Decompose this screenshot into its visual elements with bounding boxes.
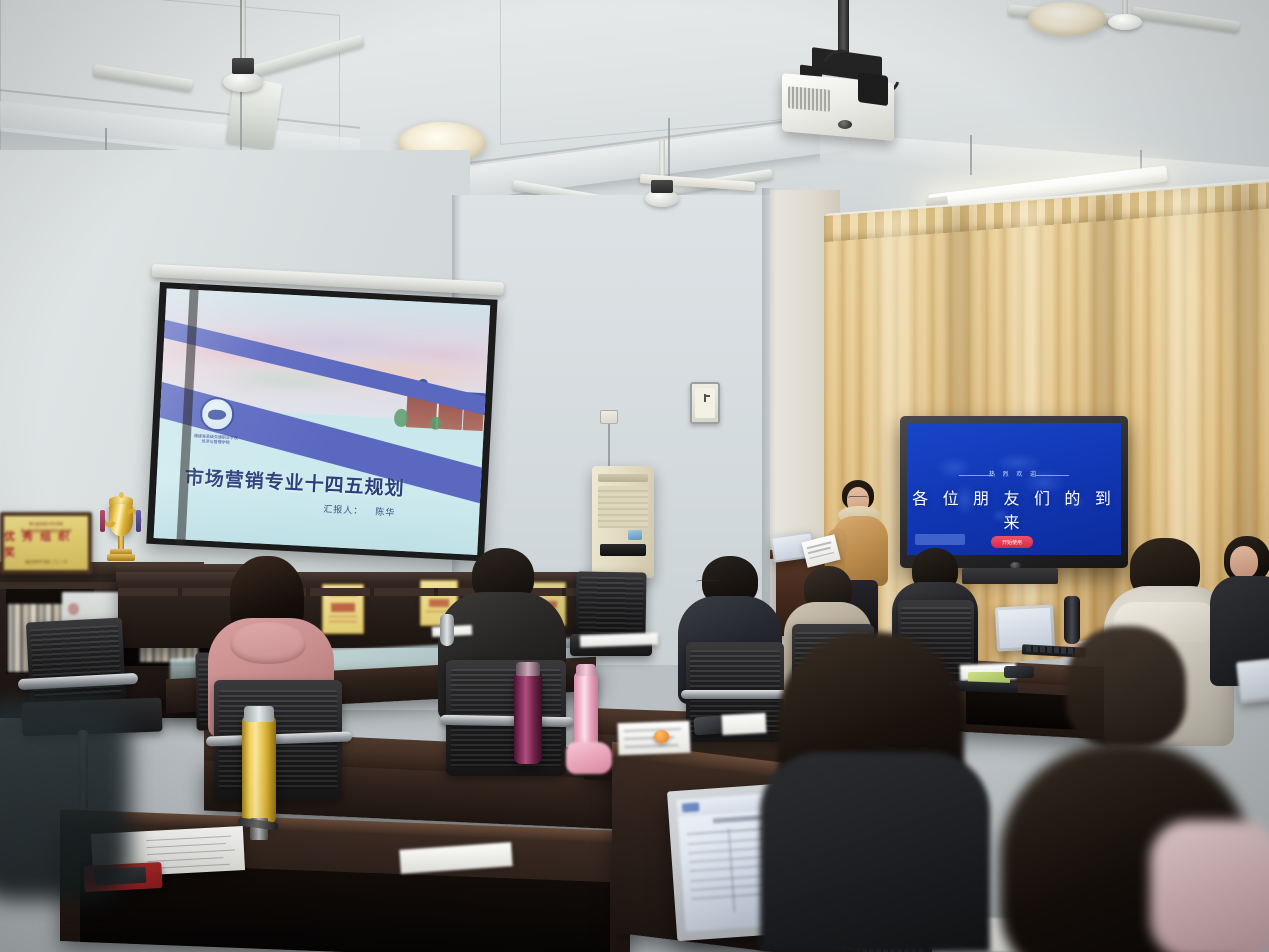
thermos-cap — [576, 664, 596, 676]
plaque-header: 第九届全国大学生竞赛 — [4, 521, 88, 526]
projection-screen-frame: 福建省高级交通职业学院 经济与管理学院 市场营销专业十四五规划 汇报人： 陈华 — [146, 282, 497, 561]
clock-hand-minute — [704, 395, 710, 397]
ac-filter-panel — [598, 486, 648, 528]
trophy-ribbon — [100, 510, 105, 532]
black-thermos[interactable] — [1064, 596, 1080, 644]
ac-top-vent — [598, 474, 648, 482]
laptop-screen — [1238, 660, 1269, 700]
fan-rod — [1122, 0, 1128, 14]
ceiling-dome-light — [1028, 2, 1106, 36]
computer-mouse[interactable] — [1004, 666, 1034, 678]
chair-arm — [681, 690, 791, 699]
smart-display-screen: 热 烈 欢 迎 各 位 朋 友 们 的 到 来 开始使用 — [907, 423, 1121, 555]
foreground-chair-blur — [0, 700, 130, 900]
ac-outlet-vent — [600, 544, 646, 556]
logo-emblem — [208, 409, 227, 421]
projector-connector-block — [858, 72, 888, 106]
pendant-stem — [970, 135, 972, 175]
orange-fruit — [654, 730, 669, 743]
fan-hub — [1108, 14, 1142, 30]
foreground-shoulders-1 — [760, 752, 990, 952]
foreground-shoulder-2 — [1150, 820, 1269, 952]
foreground-head-3 — [1066, 626, 1186, 746]
welcome-headline: 各 位 朋 友 们 的 到 来 — [907, 485, 1121, 533]
chair[interactable] — [26, 618, 126, 707]
attendee-head — [1230, 546, 1258, 578]
trophy-ribbon — [136, 510, 141, 532]
glass-tumbler[interactable] — [440, 614, 454, 646]
laptop[interactable] — [1236, 658, 1269, 704]
fan-hub — [223, 72, 263, 92]
trophy — [100, 496, 142, 568]
clock-face — [695, 388, 716, 418]
chair[interactable] — [575, 571, 646, 638]
air-conditioner[interactable] — [592, 466, 654, 578]
trophy-stem — [118, 536, 124, 550]
award-plaque: 优 秀 组 织 奖 第九届全国大学生竞赛 第十届全国高校市场营销大赛决赛 福建省… — [0, 512, 92, 574]
pendant-stem — [668, 118, 670, 180]
notebook[interactable] — [722, 713, 767, 735]
projection-screen-surface: 福建省高级交通职业学院 经济与管理学院 市场营销专业十四五规划 汇报人： 陈华 — [154, 288, 491, 555]
laptop-screen — [998, 608, 1052, 649]
welcome-eyebrow: 热 烈 欢 迎 — [907, 469, 1121, 478]
ac-badge — [628, 530, 642, 540]
pink-gloves[interactable] — [566, 742, 612, 774]
yellow-thermos[interactable] — [242, 716, 276, 824]
bottle-cap — [516, 662, 540, 676]
chair[interactable] — [446, 660, 566, 776]
trophy-finial — [119, 492, 124, 498]
conference-room-scene: 福建省高级交通职业学院 经济与管理学院 市场营销专业十四五规划 汇报人： 陈华 … — [0, 0, 1269, 952]
projector-lens — [838, 120, 852, 129]
chair[interactable] — [214, 680, 342, 800]
fan-motor — [651, 180, 673, 193]
fan-motor — [232, 58, 254, 74]
slide-presenter-label: 汇报人： — [323, 502, 364, 517]
plaque-footer: 福建省教育厅颁发 二〇二一年 — [4, 559, 88, 564]
attendee-glasses — [696, 580, 720, 590]
attendee-hood — [230, 622, 306, 664]
ceiling-fan — [175, 0, 335, 120]
presenter-glasses — [848, 496, 868, 501]
plaque-header-2: 第十届全国高校市场营销大赛决赛 — [4, 528, 88, 533]
projector-vent — [788, 86, 830, 112]
slide-presenter-name: 陈华 — [375, 505, 396, 519]
purple-water-bottle[interactable] — [514, 672, 542, 764]
wall-socket[interactable] — [600, 410, 618, 424]
thermos-cap — [244, 706, 274, 722]
display-corner-tag — [915, 534, 965, 545]
smart-display-bezel[interactable]: 热 烈 欢 迎 各 位 朋 友 们 的 到 来 开始使用 — [900, 416, 1128, 568]
start-button[interactable]: 开始使用 — [991, 536, 1033, 548]
trophy-base-plinth — [107, 554, 135, 561]
wall-clock — [690, 382, 720, 424]
